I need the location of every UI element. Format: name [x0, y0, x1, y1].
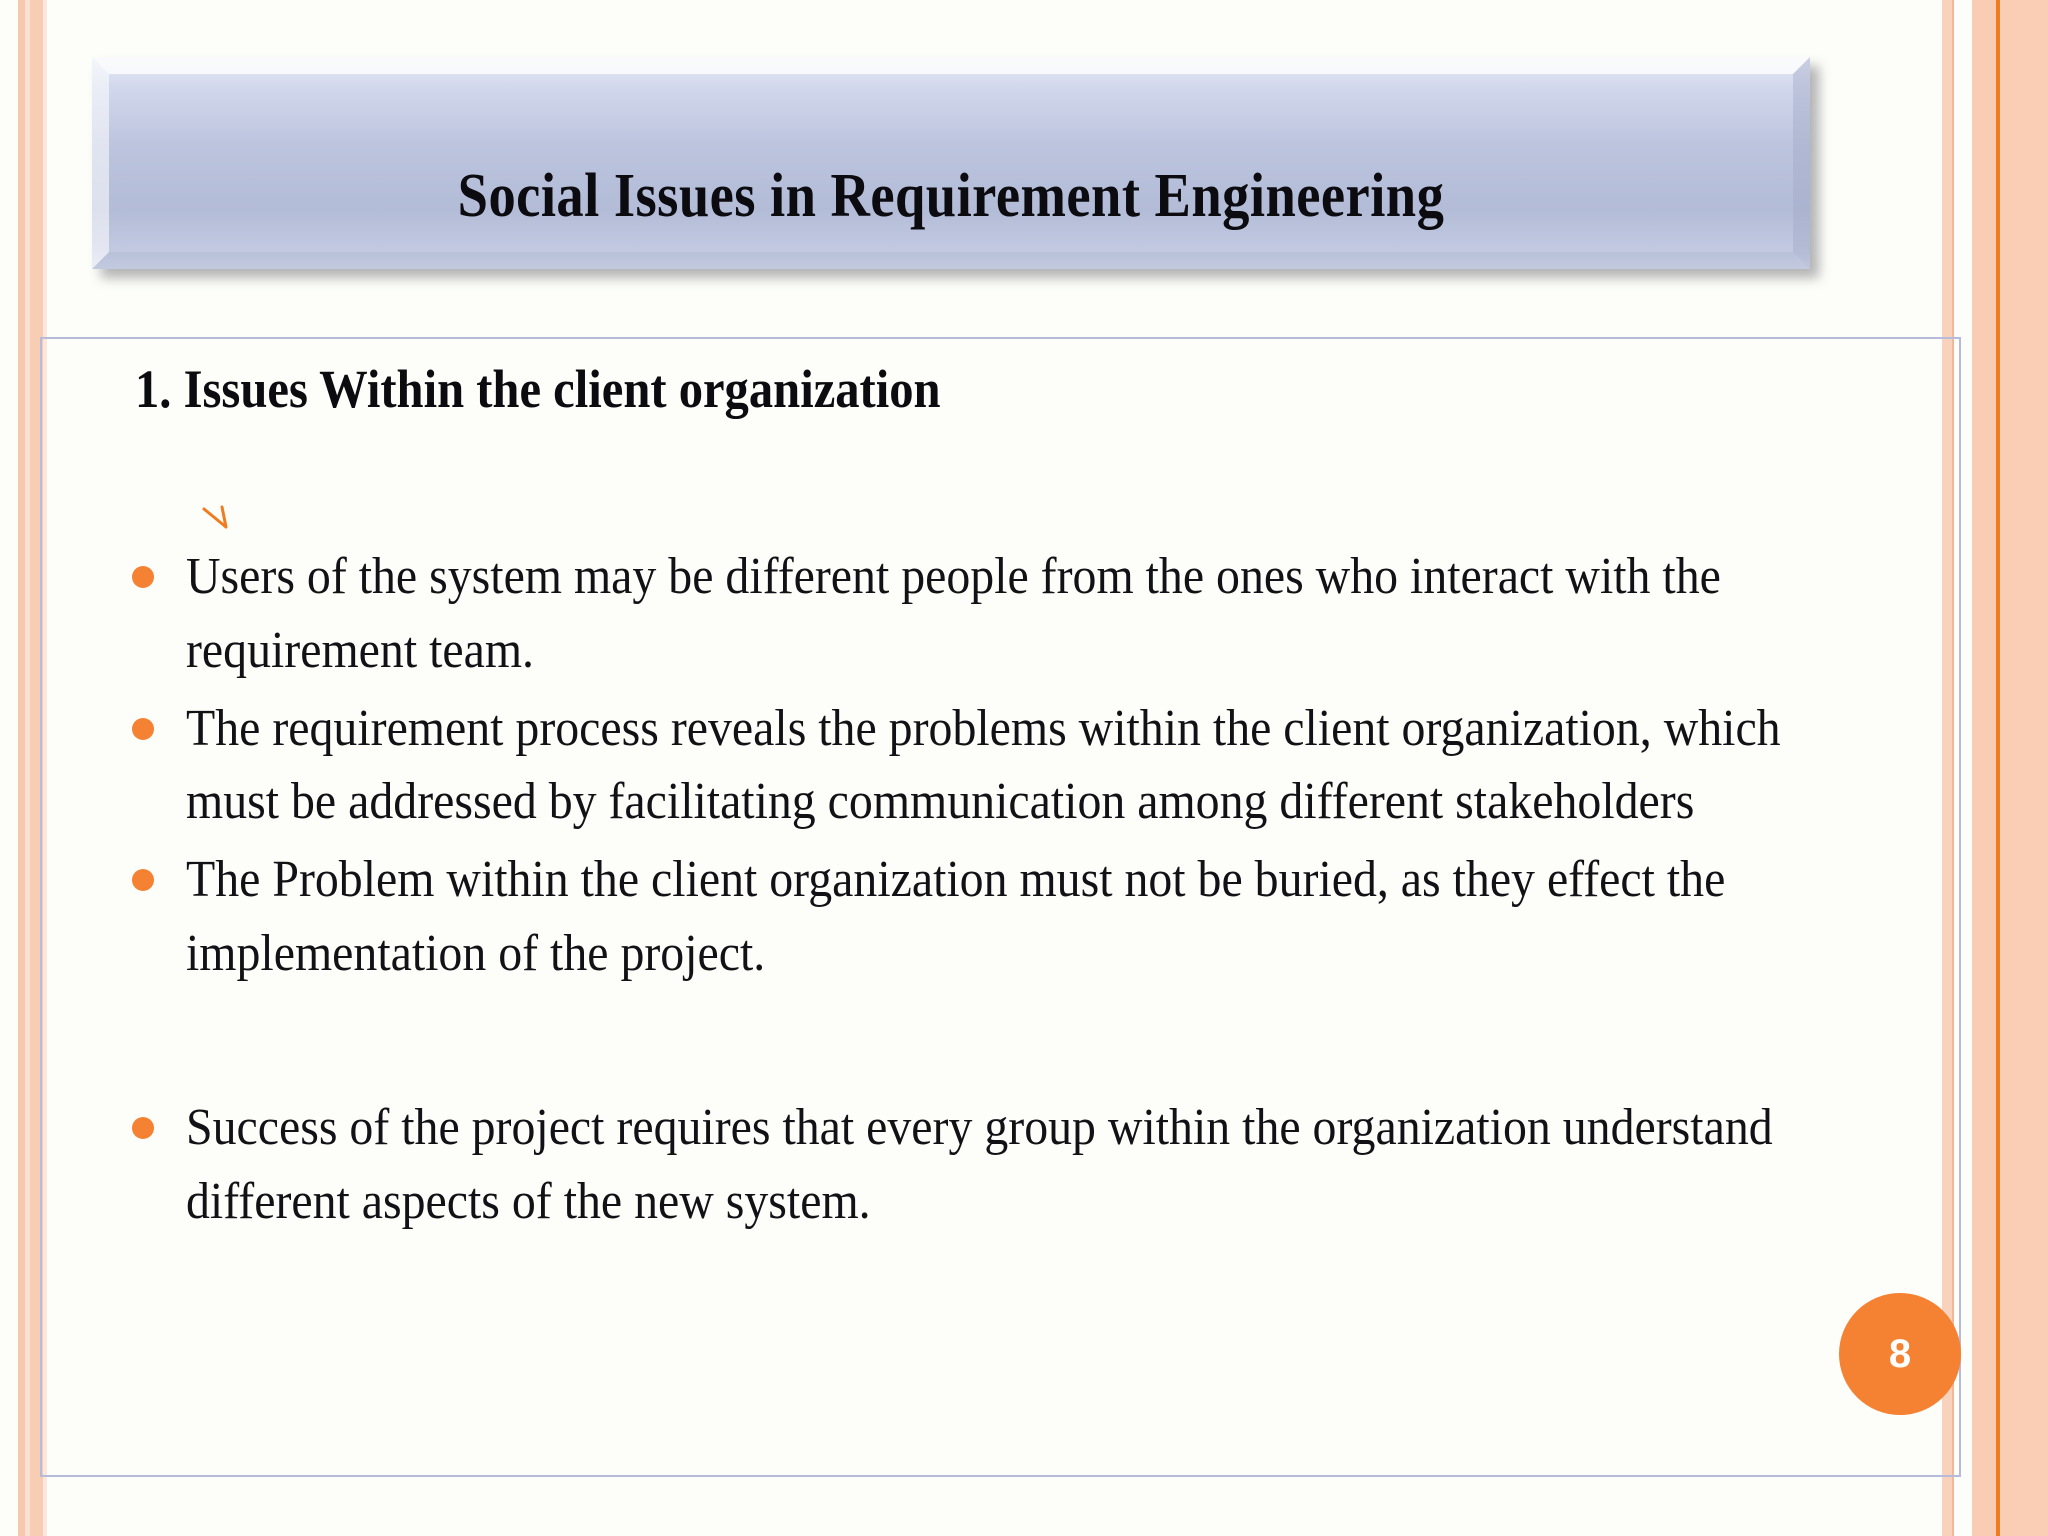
bullet-dot-icon: [132, 718, 154, 740]
page-number-badge: 8: [1839, 1293, 1961, 1415]
left-edge-stripe-1: [18, 0, 25, 1536]
slide-canvas: Social Issues in Requirement Engineering…: [0, 0, 2048, 1536]
right-edge-stripe-4: [2000, 0, 2048, 1536]
bullet-text: Success of the project requires that eve…: [186, 1091, 1820, 1239]
bullet-item: The Problem within the client organizati…: [132, 843, 1962, 991]
bullet-item: Users of the system may be different peo…: [132, 540, 1962, 688]
bullet-text: Users of the system may be different peo…: [186, 540, 1820, 688]
bullet-dot-icon: [132, 869, 154, 891]
bullet-dot-icon: [132, 566, 154, 588]
bullet-spacer: [132, 995, 1962, 1091]
section-heading: 1. Issues Within the client organization: [135, 358, 941, 420]
bullet-text: The requirement process reveals the prob…: [186, 692, 1820, 840]
slide-title: Social Issues in Requirement Engineering: [195, 161, 1707, 232]
bullet-item: Success of the project requires that eve…: [132, 1091, 1962, 1239]
bullet-dot-icon: [132, 1117, 154, 1139]
bullet-item: The requirement process reveals the prob…: [132, 692, 1962, 840]
bullet-text: The Problem within the client organizati…: [186, 843, 1820, 991]
bullet-list: Users of the system may be different peo…: [132, 540, 1962, 1243]
title-bar: Social Issues in Requirement Engineering: [92, 57, 1810, 269]
